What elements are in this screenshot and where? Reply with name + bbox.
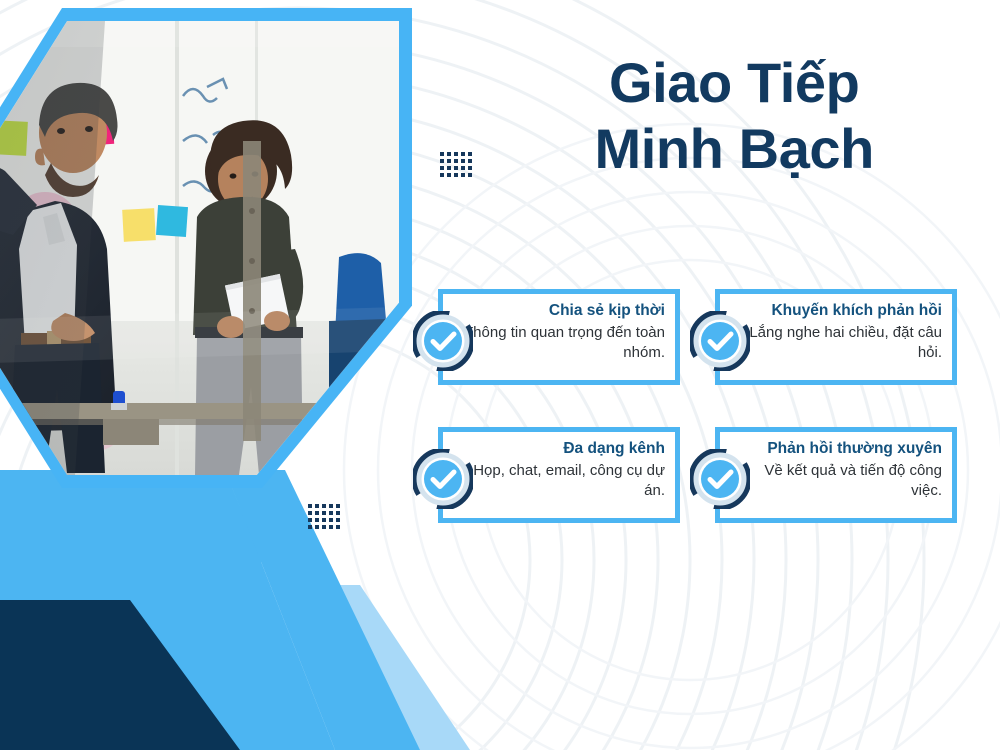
dot — [322, 504, 326, 508]
dot — [308, 518, 312, 522]
dot — [461, 173, 465, 177]
feature-card-title: Đa dạng kênh — [460, 439, 665, 459]
hexagon-photo-clip — [0, 21, 399, 475]
dot — [308, 511, 312, 515]
feature-card-title: Chia sẻ kịp thời — [460, 301, 665, 321]
dot — [308, 525, 312, 529]
dot — [461, 159, 465, 163]
navy-parallelogram — [0, 600, 240, 750]
feature-card-title: Khuyến khích phản hồi — [737, 301, 942, 321]
dot — [336, 504, 340, 508]
dot — [447, 152, 451, 156]
dot — [440, 173, 444, 177]
dot — [315, 518, 319, 522]
check-circle-icon — [690, 449, 750, 509]
feature-card-description: Họp, chat, email, công cụ dự án. — [460, 461, 665, 501]
dot — [322, 518, 326, 522]
dot — [447, 173, 451, 177]
blue-shape-large — [0, 470, 335, 750]
feature-card-description: Thông tin quan trọng đến toàn nhóm. — [460, 323, 665, 363]
dot — [447, 166, 451, 170]
dot — [440, 166, 444, 170]
dot — [454, 152, 458, 156]
feature-card-4[interactable]: Phản hồi thường xuyên Về kết quả và tiến… — [715, 427, 957, 523]
dot — [461, 152, 465, 156]
dot — [336, 525, 340, 529]
dot — [440, 152, 444, 156]
dot — [468, 159, 472, 163]
hexagon-photo-frame — [0, 8, 412, 488]
dot — [336, 518, 340, 522]
dot — [454, 159, 458, 163]
feature-card-text: Chia sẻ kịp thời Thông tin quan trọng đế… — [460, 301, 665, 363]
title-line-2: Minh Bạch — [594, 116, 874, 182]
dot — [461, 166, 465, 170]
feature-card-text: Phản hồi thường xuyên Về kết quả và tiến… — [737, 439, 942, 501]
dot — [315, 511, 319, 515]
dot — [454, 173, 458, 177]
feature-card-1[interactable]: Chia sẻ kịp thời Thông tin quan trọng đế… — [438, 289, 680, 385]
dot — [322, 511, 326, 515]
title-line-1: Giao Tiếp — [594, 50, 874, 116]
dot — [468, 173, 472, 177]
meeting-photo — [0, 21, 399, 475]
feature-card-3[interactable]: Đa dạng kênh Họp, chat, email, công cụ d… — [438, 427, 680, 523]
dot — [440, 159, 444, 163]
feature-card-2[interactable]: Khuyến khích phản hồi Lắng nghe hai chiề… — [715, 289, 957, 385]
dot — [329, 518, 333, 522]
dot — [315, 504, 319, 508]
feature-card-text: Khuyến khích phản hồi Lắng nghe hai chiề… — [737, 301, 942, 363]
feature-card-description: Về kết quả và tiến độ công việc. — [737, 461, 942, 501]
dot — [329, 525, 333, 529]
dot — [329, 511, 333, 515]
check-circle-icon — [690, 311, 750, 371]
light-blue-band — [272, 585, 470, 750]
dot — [468, 166, 472, 170]
feature-card-description: Lắng nghe hai chiều, đặt câu hỏi. — [737, 323, 942, 363]
dot — [454, 166, 458, 170]
dot — [322, 525, 326, 529]
feature-card-text: Đa dạng kênh Họp, chat, email, công cụ d… — [460, 439, 665, 501]
dot — [329, 504, 333, 508]
slide-canvas: Giao Tiếp Minh Bạch Chia sẻ kịp thời Thô… — [0, 0, 1000, 750]
dot — [468, 152, 472, 156]
check-circle-icon — [413, 449, 473, 509]
dot — [315, 525, 319, 529]
dot — [336, 511, 340, 515]
page-title: Giao Tiếp Minh Bạch — [594, 50, 874, 182]
dot — [447, 159, 451, 163]
dot — [308, 504, 312, 508]
check-circle-icon — [413, 311, 473, 371]
feature-card-title: Phản hồi thường xuyên — [737, 439, 942, 459]
